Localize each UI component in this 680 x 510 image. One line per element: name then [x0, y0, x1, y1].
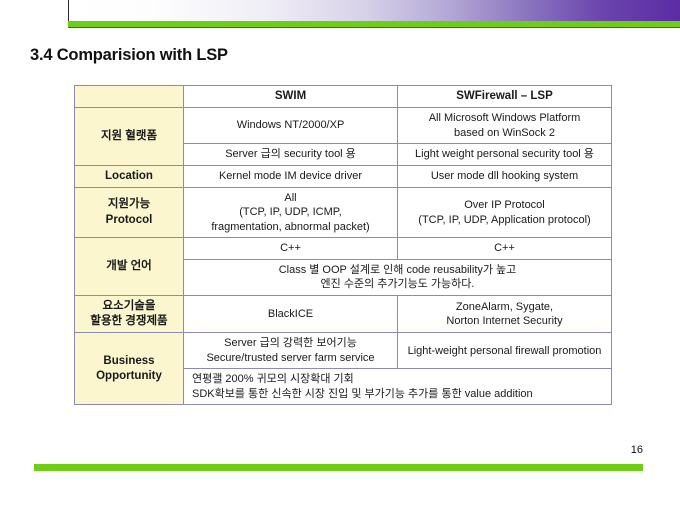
- row-label-line: 지원가능: [79, 197, 179, 212]
- cell-text-line: User mode dll hooking system: [402, 169, 607, 184]
- cell-swfirewall-tool-usage: Light weight personal security tool 용: [398, 144, 612, 166]
- table-row: Location Kernel mode IM device driver Us…: [75, 165, 612, 187]
- table-row: 요소기술을 할용한 경쟁제품 BlackICE ZoneAlarm, Sygat…: [75, 295, 612, 332]
- cell-text-line: SDK확보를 통한 신속한 시장 진입 및 부가기능 추가를 통한 value …: [192, 387, 607, 402]
- row-label-location: Location: [75, 165, 184, 187]
- cell-merged-market-note: 연평괠 200% 귀모의 시장확대 기회 SDK확보를 통한 신속한 시장 진입…: [184, 369, 612, 405]
- table-row: 지원 혈랫폼 Windows NT/2000/XP All Microsoft …: [75, 108, 612, 144]
- cell-swim-tool-usage: Server 급의 security tool 용: [184, 144, 398, 166]
- column-header-swim: SWIM: [184, 86, 398, 108]
- page-number: 16: [631, 444, 643, 456]
- table-row: 지원가능 Protocol All (TCP, IP, UDP, ICMP, f…: [75, 187, 612, 238]
- cell-text-line: 연평괠 200% 귀모의 시장확대 기회: [192, 372, 607, 387]
- cell-text-line: Server 급의 강력한 보어기능: [188, 336, 393, 351]
- cell-text-line: fragmentation, abnormal packet): [188, 220, 393, 235]
- table-row: Business Opportunity Server 급의 강력한 보어기능 …: [75, 333, 612, 369]
- cell-swim-location: Kernel mode IM device driver: [184, 165, 398, 187]
- cell-text-line: All: [188, 191, 393, 206]
- bottom-accent-bar: [34, 464, 643, 471]
- cell-text-line: (TCP, IP, UDP, ICMP,: [188, 205, 393, 220]
- row-label-line: 할용한 경쟁제품: [79, 314, 179, 329]
- cell-text-line: C++: [188, 241, 393, 256]
- cell-swfirewall-business: Light-weight personal firewall promotion: [398, 333, 612, 369]
- cell-merged-oop-note: Class 별 OOP 설계로 인해 code reusability가 높고 …: [184, 259, 612, 295]
- cell-swfirewall-competitors: ZoneAlarm, Sygate, Norton Internet Secur…: [398, 295, 612, 332]
- cell-swfirewall-language: C++: [398, 238, 612, 260]
- cell-swfirewall-protocol: Over IP Protocol (TCP, IP, UDP, Applicat…: [398, 187, 612, 238]
- row-label-business-opportunity: Business Opportunity: [75, 333, 184, 405]
- cell-text-line: based on WinSock 2: [402, 126, 607, 141]
- cell-swfirewall-location: User mode dll hooking system: [398, 165, 612, 187]
- cell-text-line: Secure/trusted server farm service: [188, 351, 393, 366]
- cell-text-line: All Microsoft Windows Platform: [402, 111, 607, 126]
- cell-text-line: Norton Internet Security: [402, 314, 607, 329]
- cell-swim-platform: Windows NT/2000/XP: [184, 108, 398, 144]
- row-label-protocol: 지원가능 Protocol: [75, 187, 184, 238]
- cell-text-line: Light weight personal security tool 용: [402, 147, 607, 162]
- cell-text-line: Kernel mode IM device driver: [188, 169, 393, 184]
- cell-text-line: Light-weight personal firewall promotion: [402, 344, 607, 359]
- page-title: 3.4 Comparision with LSP: [30, 46, 228, 65]
- cell-text-line: Windows NT/2000/XP: [188, 118, 393, 133]
- cell-text-line: C++: [402, 241, 607, 256]
- cell-text-line: 엔진 수준의 추가기능도 가능하다.: [188, 277, 607, 292]
- cell-text-line: Class 별 OOP 설계로 인해 code reusability가 높고: [188, 263, 607, 278]
- cell-text-line: Over IP Protocol: [402, 198, 607, 213]
- cell-text-line: BlackICE: [188, 307, 393, 322]
- cell-swfirewall-platform: All Microsoft Windows Platform based on …: [398, 108, 612, 144]
- cell-swim-competitors: BlackICE: [184, 295, 398, 332]
- table-row: 개발 언어 C++ C++: [75, 238, 612, 260]
- comparison-table: SWIM SWFirewall – LSP 지원 혈랫폼 Windows NT/…: [74, 85, 612, 405]
- row-label-dev-language: 개발 언어: [75, 238, 184, 296]
- row-label-line: Opportunity: [79, 369, 179, 384]
- row-label-line: Protocol: [79, 213, 179, 228]
- top-accent-bar: [68, 21, 680, 28]
- cell-text-line: (TCP, IP, UDP, Application protocol): [402, 213, 607, 228]
- row-label-line: 요소기술을: [79, 299, 179, 314]
- column-header-swfirewall: SWFirewall – LSP: [398, 86, 612, 108]
- top-banner-gradient: [68, 0, 680, 21]
- cell-swim-protocol: All (TCP, IP, UDP, ICMP, fragmentation, …: [184, 187, 398, 238]
- cell-swim-business: Server 급의 강력한 보어기능 Secure/trusted server…: [184, 333, 398, 369]
- cell-swim-language: C++: [184, 238, 398, 260]
- cell-text-line: ZoneAlarm, Sygate,: [402, 300, 607, 315]
- table-header-row: SWIM SWFirewall – LSP: [75, 86, 612, 108]
- cell-text-line: Server 급의 security tool 용: [188, 147, 393, 162]
- row-label-line: Business: [79, 354, 179, 369]
- row-label-competing-products: 요소기술을 할용한 경쟁제품: [75, 295, 184, 332]
- table-corner-cell: [75, 86, 184, 108]
- row-label-support-platform: 지원 혈랫폼: [75, 108, 184, 166]
